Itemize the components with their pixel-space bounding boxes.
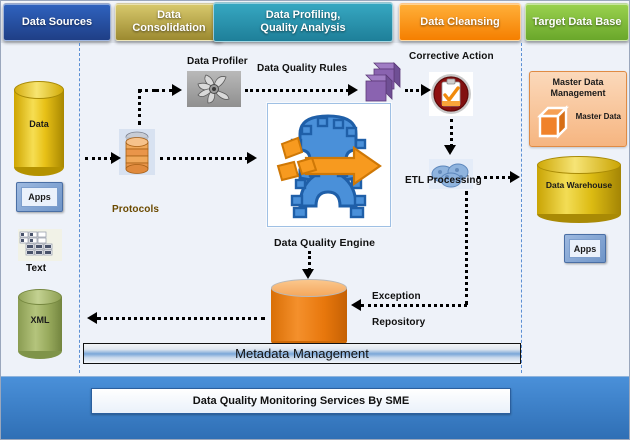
purple-cubes-icon — [358, 59, 404, 105]
tab-data-consolidation[interactable]: Data Consolidation — [115, 3, 223, 41]
gears-arrow-icon — [268, 104, 388, 224]
footer-services-button[interactable]: Data Quality Monitoring Services By SME — [91, 388, 511, 414]
exception-repository-cylinder — [271, 279, 347, 341]
flow-protocols-to-engine — [160, 157, 248, 160]
lane-divider-right — [521, 43, 522, 373]
tab-data-cleansing[interactable]: Data Cleansing — [399, 3, 521, 41]
metadata-management-bar: Metadata Management — [83, 343, 521, 364]
master-data-label: Master Data — [576, 112, 621, 121]
xml-cylinder-label: XML — [18, 315, 62, 325]
arrowhead-right — [247, 152, 257, 164]
phase-tab-strip: Data Sources Data Consolidation Data Pro… — [1, 1, 630, 43]
xml-source-cylinder: XML — [18, 289, 62, 351]
turbine-fan-icon — [194, 73, 234, 105]
data-quality-rules-label: Data Quality Rules — [257, 63, 347, 74]
etl-processing-label: ETL Processing — [405, 175, 482, 186]
arrowhead-down — [444, 145, 456, 155]
flow-exception-feedback — [97, 317, 265, 320]
protocols-icon-tile — [119, 129, 155, 175]
arrowhead-right — [172, 84, 182, 96]
flow-etl-down-rail — [465, 191, 468, 305]
flow-rail-to-exception — [361, 304, 467, 307]
data-profiler-icon-tile — [187, 71, 241, 107]
apps-label: Apps — [28, 192, 51, 202]
flow-into-profiler — [155, 89, 173, 92]
repository-label: Repository — [372, 317, 425, 328]
database-stack-icon — [120, 130, 154, 174]
master-data-management-card: Master Data Management Master Data — [529, 71, 627, 147]
data-cylinder-label: Data — [14, 119, 64, 129]
data-quality-engine-label: Data Quality Engine — [274, 237, 375, 249]
arrowhead-right — [348, 84, 358, 96]
arrowhead-left — [351, 299, 361, 311]
source-apps-button[interactable]: Apps — [16, 182, 63, 212]
footer-label: Data Quality Monitoring Services By SME — [193, 395, 409, 407]
data-warehouse-cylinder: Data Warehouse — [537, 156, 621, 214]
flow-sources-to-protocols — [85, 157, 113, 160]
text-source-label: Text — [26, 263, 46, 274]
data-source-cylinder: Data — [14, 81, 64, 167]
apps-label: Apps — [574, 244, 597, 254]
arrowhead-right — [111, 152, 121, 164]
clipboard-check-icon — [430, 73, 472, 115]
tab-target-database[interactable]: Target Data Base — [525, 3, 629, 41]
lane-divider-left — [79, 43, 80, 373]
tab-label: Data Sources — [18, 16, 96, 29]
diagram-canvas: Data Sources Data Consolidation Data Pro… — [0, 0, 630, 440]
footer-band: Data Quality Monitoring Services By SME — [1, 376, 630, 439]
data-profiler-label: Data Profiler — [187, 56, 248, 67]
flow-engine-to-exception — [308, 251, 311, 271]
tab-data-profiling[interactable]: Data Profiling, Quality Analysis — [213, 2, 393, 42]
tab-label: Data Profiling, Quality Analysis — [256, 9, 349, 35]
orange-cube-icon — [536, 104, 576, 140]
data-warehouse-label: Data Warehouse — [537, 180, 621, 190]
corrective-action-icon-tile — [429, 72, 473, 116]
flow-profiler-to-rules — [245, 89, 349, 92]
flow-etl-to-warehouse — [477, 176, 511, 179]
data-quality-engine-panel — [267, 103, 391, 227]
arrowhead-right — [510, 171, 520, 183]
tab-data-sources[interactable]: Data Sources — [3, 3, 111, 41]
flow-corrective-to-etl — [450, 119, 453, 147]
flow-profiler-riser — [138, 89, 141, 125]
metadata-management-label: Metadata Management — [235, 346, 369, 361]
protocols-label: Protocols — [112, 204, 159, 215]
tab-label: Data Consolidation — [128, 9, 209, 35]
spreadsheet-grid-icon — [18, 229, 62, 261]
tab-label: Target Data Base — [528, 16, 625, 29]
arrowhead-right — [421, 84, 431, 96]
arrowhead-down — [302, 269, 314, 279]
target-apps-button[interactable]: Apps — [564, 234, 606, 263]
corrective-action-label: Corrective Action — [409, 51, 494, 62]
arrowhead-left — [87, 312, 97, 324]
text-source-icon-tile — [18, 229, 62, 261]
mdm-title: Master Data Management — [530, 77, 626, 99]
data-quality-rules-icon — [358, 59, 404, 105]
flow-profiler-riser-foot — [138, 89, 156, 92]
exception-label: Exception — [372, 291, 421, 302]
tab-label: Data Cleansing — [416, 16, 503, 29]
